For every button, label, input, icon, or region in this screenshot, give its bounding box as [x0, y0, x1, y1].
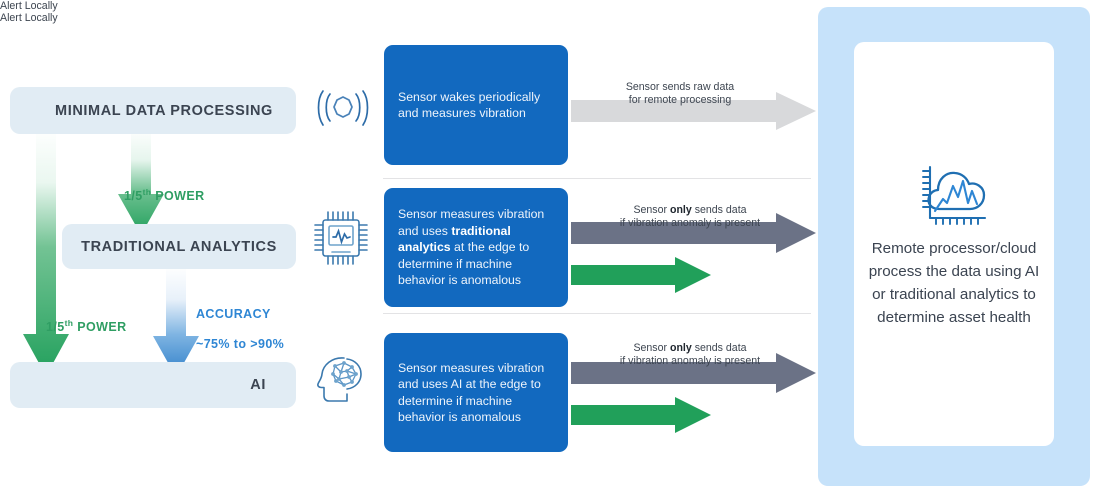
left-box-traditional-analytics[interactable]: TRADITIONAL ANALYTICS — [62, 224, 296, 269]
row-divider-1 — [383, 178, 811, 179]
power-top-prefix: 1/5 — [124, 189, 143, 203]
vibration-sensor-icon — [312, 82, 374, 134]
left-box-traditional-label: TRADITIONAL ANALYTICS — [81, 239, 277, 255]
flow-label-2: Sensor only sends dataif vibration anoma… — [585, 190, 795, 231]
arrow-alert-locally-2 — [571, 257, 711, 293]
process-card-2[interactable]: Sensor measures vibration and uses tradi… — [384, 188, 568, 307]
accuracy-title: ACCURACY — [196, 307, 284, 322]
diagram-canvas: MINIMAL DATA PROCESSING TRADITIONAL ANAL… — [0, 0, 1100, 493]
remote-cloud-card[interactable]: Remote processor/cloud process the data … — [854, 42, 1054, 446]
cloud-analytics-icon — [913, 159, 995, 229]
ai-head-brain-icon — [311, 350, 371, 410]
row-divider-2 — [383, 313, 811, 314]
left-box-ai-label: AI — [250, 377, 266, 393]
flow-label-1: Sensor sends raw datafor remote processi… — [585, 67, 775, 108]
process-card-2-text: Sensor measures vibration and uses tradi… — [398, 206, 554, 289]
alert-label-2: Alert Locally — [0, 0, 110, 12]
flow-label-2-text: Sensor only sends dataif vibration anoma… — [620, 204, 760, 230]
power-bottom-prefix: 1/5 — [46, 320, 65, 334]
flow-label-3-text: Sensor only sends dataif vibration anoma… — [620, 342, 760, 368]
process-card-3-text: Sensor measures vibration and uses AI at… — [398, 360, 554, 426]
label-power-bottom: 1/5th POWER — [46, 301, 127, 335]
label-power-top: 1/5th POWER — [124, 170, 205, 204]
left-box-ai[interactable]: AI — [10, 362, 296, 408]
process-card-3[interactable]: Sensor measures vibration and uses AI at… — [384, 333, 568, 452]
left-box-minimal-data-processing[interactable]: MINIMAL DATA PROCESSING — [10, 87, 296, 134]
remote-cloud-text: Remote processor/cloud process the data … — [863, 237, 1045, 329]
chip-analytics-icon — [311, 208, 371, 268]
power-bottom-suffix: POWER — [73, 320, 126, 334]
alert-label-3: Alert Locally — [0, 12, 110, 24]
flow-label-1-text: Sensor sends raw datafor remote processi… — [626, 81, 734, 107]
power-top-suffix: POWER — [151, 189, 204, 203]
accuracy-value: ~75% to >90% — [196, 337, 284, 352]
process-card-1[interactable]: Sensor wakes periodically and measures v… — [384, 45, 568, 165]
process-card-1-text: Sensor wakes periodically and measures v… — [398, 89, 554, 122]
left-box-minimal-label: MINIMAL DATA PROCESSING — [55, 103, 273, 119]
flow-label-3: Sensor only sends dataif vibration anoma… — [585, 328, 795, 369]
arrow-alert-locally-3 — [571, 397, 711, 433]
label-accuracy: ACCURACY ~75% to >90% — [196, 292, 284, 367]
